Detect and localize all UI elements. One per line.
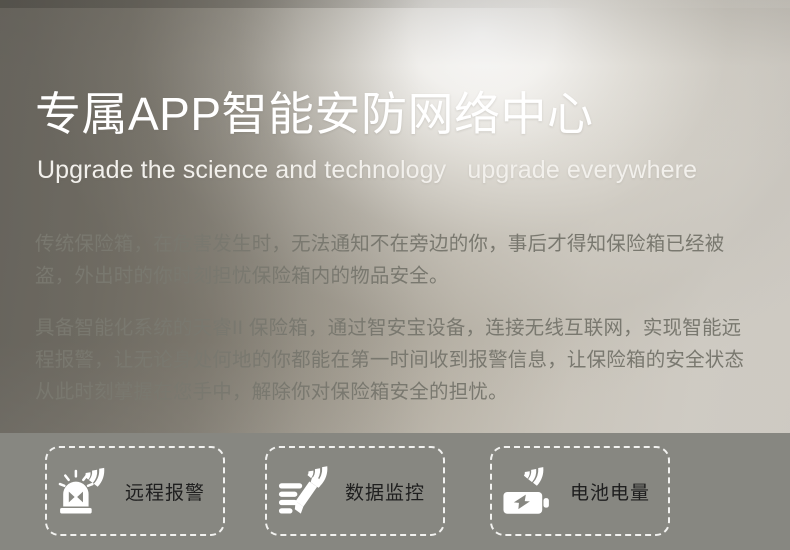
feature-card-data-monitoring[interactable]: 数据监控 [265, 446, 445, 536]
battery-charge-icon [502, 460, 564, 522]
data-pencil-icon [277, 460, 339, 522]
feature-band: 远程报警 [0, 433, 790, 550]
page-title: 专属APP智能安防网络中心 [35, 91, 594, 137]
siren-alarm-icon [57, 460, 119, 522]
body-paragraph-1: 传统保险箱，在危害发生时，无法通知不在旁边的你，事后才得知保险箱已经被盗，外出时… [35, 228, 751, 292]
feature-label-battery-level: 电池电量 [570, 478, 650, 505]
promo-banner: 专属APP智能安防网络中心 Upgrade the science and te… [0, 0, 790, 550]
feature-card-battery-level[interactable]: 电池电量 [490, 446, 670, 536]
background-top-strip [0, 0, 790, 8]
body-paragraph-2: 具备智能化系统的天睿II 保险箱，通过智安宝设备，连接无线互联网，实现智能远程报… [35, 312, 751, 408]
feature-label-data-monitoring: 数据监控 [345, 478, 425, 505]
page-subtitle: Upgrade the science and technology upgra… [37, 158, 697, 183]
feature-label-remote-alarm: 远程报警 [125, 478, 205, 505]
feature-card-remote-alarm[interactable]: 远程报警 [45, 446, 225, 536]
